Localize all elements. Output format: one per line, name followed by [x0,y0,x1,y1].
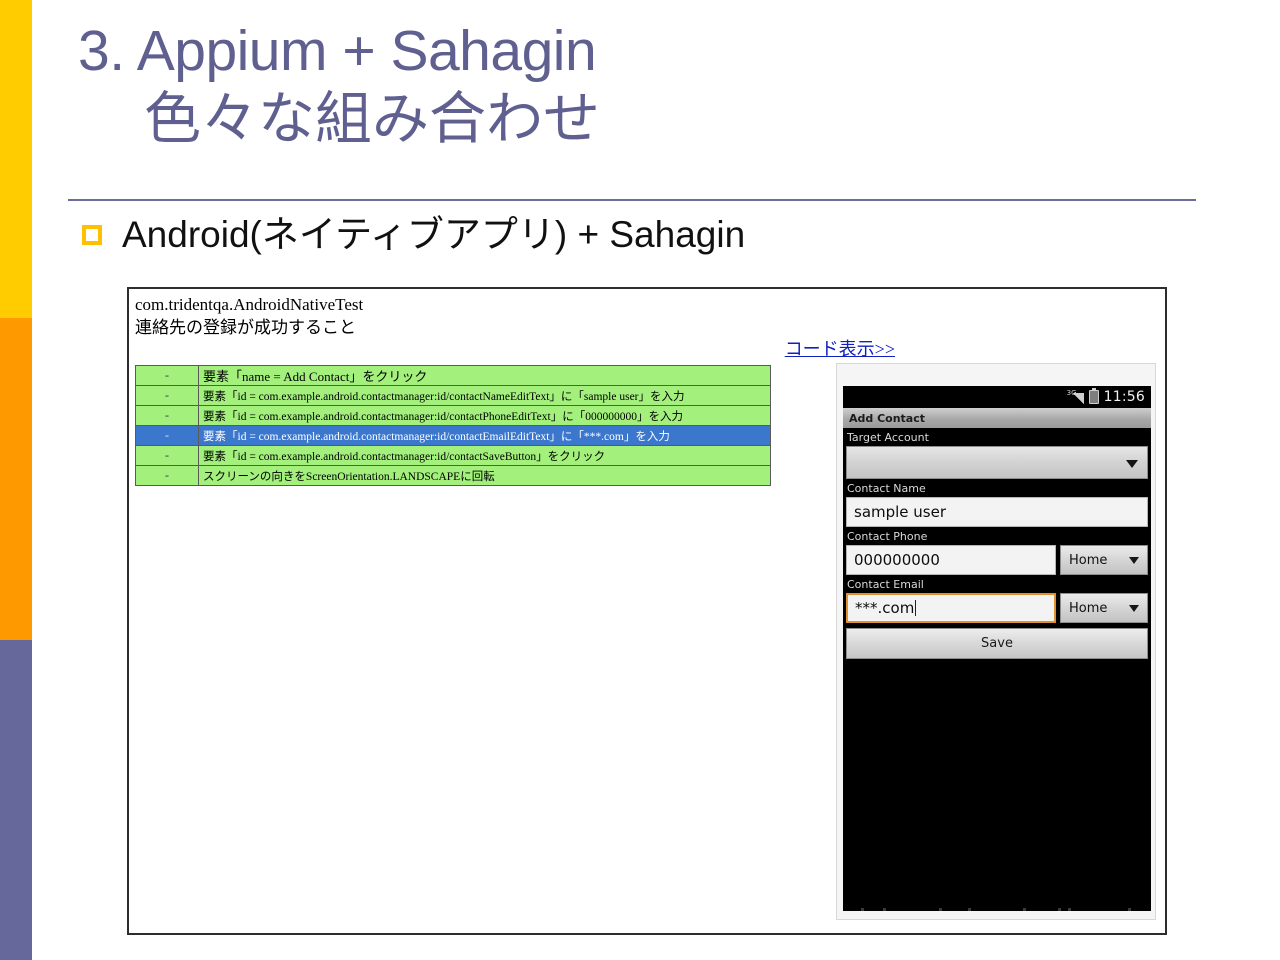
step-description: スクリーンの向きをScreenOrientation.LANDSCAPEに回転 [199,466,771,486]
android-device-frame: 3G 11:56 Add Contact Target Account Cont… [836,363,1156,920]
bullet-item: Android(ネイティブアプリ) + Sahagin [82,216,745,253]
sidebar-band-yellow [0,0,32,318]
bullet-label: Android(ネイティブアプリ) + Sahagin [122,216,745,253]
chevron-down-icon [1129,605,1139,612]
show-code-link[interactable]: コード表示>> [785,335,895,361]
save-button[interactable]: Save [846,628,1148,659]
step-number: - [136,366,199,386]
chevron-down-icon [1126,460,1138,468]
chevron-down-icon [1129,557,1139,564]
status-clock: 11:56 [1104,389,1145,405]
step-number: - [136,446,199,466]
step-description: 要素「id = com.example.android.contactmanag… [199,426,771,446]
signal-bars-shape [1073,393,1084,404]
soft-key-mark [939,908,942,911]
android-status-bar: 3G 11:56 [843,386,1151,408]
soft-key-mark [861,908,864,911]
step-description: 要素「name = Add Contact」をクリック [199,366,771,386]
table-row[interactable]: -要素「name = Add Contact」をクリック [136,366,771,386]
step-description: 要素「id = com.example.android.contactmanag… [199,446,771,466]
contact-phone-row: 000000000 Home [843,545,1151,575]
soft-key-mark [1068,908,1071,911]
screen-empty-area [843,659,1151,903]
soft-key-mark [1128,908,1131,911]
step-number: - [136,406,199,426]
android-title-bar: Add Contact [843,408,1151,428]
report-class-name: com.tridentqa.AndroidNativeTest [135,294,363,317]
square-bullet-icon [82,225,102,245]
report-test-name: 連絡先の登録が成功すること [135,317,363,340]
slide-title: 3. Appium + Sahagin 色々な組み合わせ [78,22,1198,148]
soft-key-mark [883,908,886,911]
target-account-spinner[interactable] [846,446,1148,479]
android-screen: 3G 11:56 Add Contact Target Account Cont… [843,386,1151,911]
contact-phone-value: 000000000 [854,551,940,569]
contact-email-label: Contact Email [843,575,1151,593]
battery-icon [1089,390,1099,404]
contact-phone-type-value: Home [1069,553,1107,568]
slide-title-line2: 色々な組み合わせ [78,90,1198,148]
sidebar-band-orange [0,318,32,640]
step-description: 要素「id = com.example.android.contactmanag… [199,386,771,406]
android-app-title: Add Contact [849,412,925,425]
contact-phone-label: Contact Phone [843,527,1151,545]
contact-name-row: sample user [843,497,1151,527]
soft-key-mark [968,908,971,911]
contact-phone-type-spinner[interactable]: Home [1060,545,1148,575]
step-number: - [136,426,199,446]
soft-key-mark [1058,908,1061,911]
screen-bottom-marks [843,903,1151,911]
table-row[interactable]: -要素「id = com.example.android.contactmana… [136,446,771,466]
title-divider [68,199,1196,201]
step-number: - [136,386,199,406]
contact-email-value: ***.com [855,599,914,617]
test-steps-table: -要素「name = Add Contact」をクリック-要素「id = com… [135,365,771,486]
contact-email-row: ***.com Home [843,593,1151,623]
step-number: - [136,466,199,486]
signal-bars-icon: 3G [1067,390,1084,404]
target-account-label: Target Account [843,428,1151,446]
report-header: com.tridentqa.AndroidNativeTest 連絡先の登録が成… [135,294,363,340]
contact-phone-input[interactable]: 000000000 [846,545,1056,575]
contact-email-input[interactable]: ***.com [846,593,1056,623]
text-cursor-icon [915,600,916,616]
target-account-row [843,446,1151,479]
table-row[interactable]: -要素「id = com.example.android.contactmana… [136,426,771,446]
contact-email-type-value: Home [1069,601,1107,616]
table-row[interactable]: -要素「id = com.example.android.contactmana… [136,406,771,426]
contact-email-type-spinner[interactable]: Home [1060,593,1148,623]
table-row[interactable]: -スクリーンの向きをScreenOrientation.LANDSCAPEに回転 [136,466,771,486]
soft-key-mark [1023,908,1026,911]
contact-name-label: Contact Name [843,479,1151,497]
test-steps-body: -要素「name = Add Contact」をクリック-要素「id = com… [136,366,771,486]
contact-name-value: sample user [854,503,946,521]
table-row[interactable]: -要素「id = com.example.android.contactmana… [136,386,771,406]
step-description: 要素「id = com.example.android.contactmanag… [199,406,771,426]
sidebar-band-purple [0,640,32,960]
slide-title-line1: 3. Appium + Sahagin [78,22,1198,80]
contact-name-input[interactable]: sample user [846,497,1148,527]
